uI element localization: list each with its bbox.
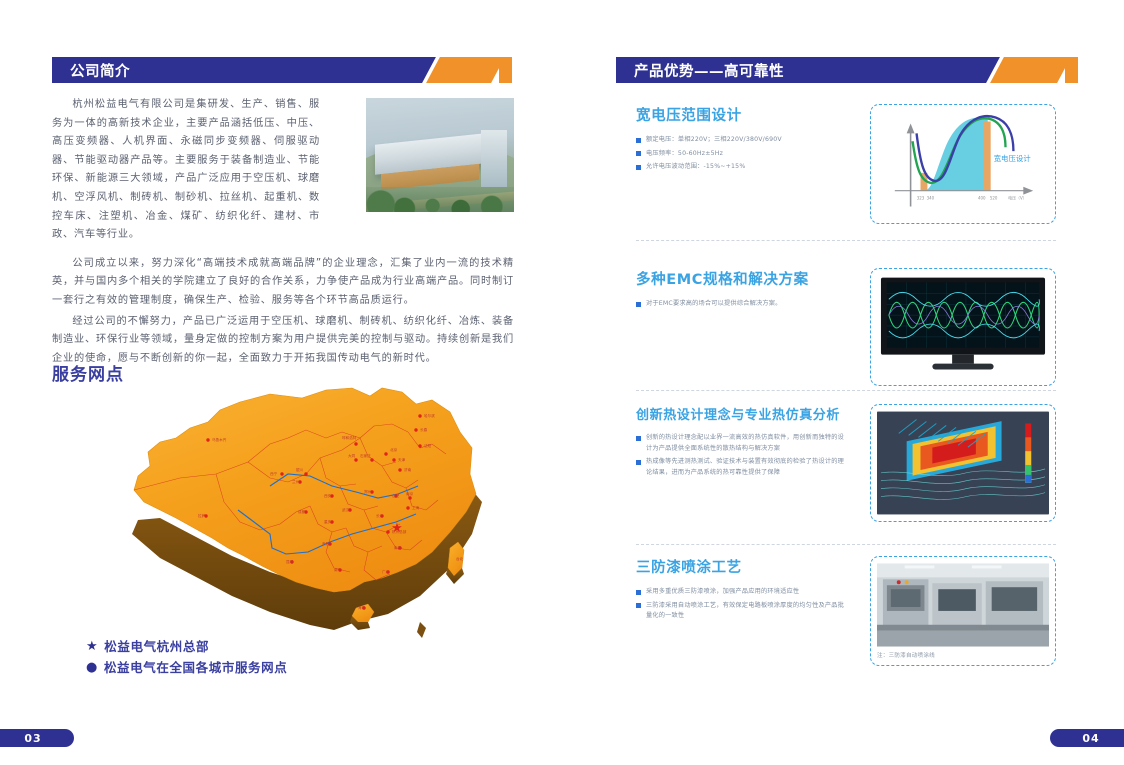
chart-x-arrow bbox=[1023, 187, 1033, 195]
map-legend: ★ 松益电气杭州总部 ● 松益电气在全国各城市服务网点 bbox=[86, 636, 287, 678]
page-number-right: 04 bbox=[1050, 729, 1124, 747]
right-banner-blue-block: 产品优势——高可靠性 bbox=[616, 57, 981, 83]
svg-text:昆明: 昆明 bbox=[286, 559, 294, 564]
feature-2-title: 多种EMC规格和解决方案 bbox=[636, 268, 848, 289]
star-icon: ★ bbox=[86, 636, 98, 657]
svg-text:广州: 广州 bbox=[382, 569, 390, 574]
right-section-banner: 产品优势——高可靠性 bbox=[616, 57, 1078, 83]
svg-text:上海: 上海 bbox=[412, 505, 420, 510]
feature-block-emc: 多种EMC规格和解决方案 对于EMC要求高的场合可以提供综合解决方案。 bbox=[636, 268, 1056, 386]
bullet-square-icon bbox=[636, 603, 641, 608]
conveyor bbox=[877, 625, 1049, 631]
feature-1-bullet-2-text: 电压频率：50-60Hz±5Hz bbox=[646, 149, 723, 160]
svg-text:台北: 台北 bbox=[456, 556, 464, 561]
svg-text:武汉: 武汉 bbox=[342, 507, 350, 512]
feature-4-bullet-1: 采用多重优质三防漆喷涂，加强产品应用的环境适应性 bbox=[636, 587, 848, 598]
intro-first-paragraph-wrap: 杭州松益电气有限公司是集研发、生产、销售、服务为一体的高新技术企业，主要产品涵括… bbox=[52, 96, 514, 245]
indicator-red bbox=[897, 580, 901, 584]
feature-block-wide-voltage: 宽电压范围设计 额定电压：单相220V；三相220V/380V/690V 电压频… bbox=[636, 104, 1056, 224]
svg-text:北京: 北京 bbox=[390, 447, 398, 452]
page-number-right-value: 04 bbox=[1082, 732, 1099, 745]
ceiling-light-1 bbox=[905, 565, 935, 568]
machine-right-window bbox=[992, 587, 1037, 611]
feature-3-bullet-1-text: 创新的热设计理念配以业界一流高效的热仿真软件，用创新而独特的设计为产品提供全面系… bbox=[646, 433, 848, 454]
left-page: 公司简介 杭州松益电气有限公司是集研发、生产、销售、服务为一体的高新技术企业，主… bbox=[0, 0, 562, 765]
svg-text:杭州总部: 杭州总部 bbox=[392, 529, 407, 534]
svg-text:重庆: 重庆 bbox=[324, 519, 332, 524]
page-number-left-value: 03 bbox=[24, 732, 41, 745]
legend-branches-label: 松益电气在全国各城市服务网点 bbox=[104, 657, 287, 678]
left-banner-title: 公司简介 bbox=[70, 60, 130, 81]
feature-1-bullet-3-text: 允许电压波动范围：-15%~+15% bbox=[646, 162, 745, 173]
feature-1-image-frame: 323 340 400 520 电压（V） 宽电压设计 bbox=[870, 104, 1056, 224]
china-service-map: ★ bbox=[120, 382, 510, 647]
feature-1-bullet-3: 允许电压波动范围：-15%~+15% bbox=[636, 162, 848, 173]
bullet-square-icon bbox=[636, 460, 641, 465]
feature-1-bullet-1: 额定电压：单相220V；三相220V/380V/690V bbox=[636, 135, 848, 146]
machine-left-window bbox=[891, 589, 921, 607]
chart-series-label: 宽电压设计 bbox=[994, 153, 1032, 163]
svg-text:拉萨: 拉萨 bbox=[198, 513, 206, 518]
feature-3-image-frame bbox=[870, 404, 1056, 522]
monitor-neck bbox=[952, 355, 974, 364]
feature-separator-3 bbox=[636, 544, 1056, 545]
feature-3-bullet-2-text: 热成像等先进测热测试、验证技术与装置有效彻底的检验了热设计的理论结果，进而为产品… bbox=[646, 457, 848, 478]
feature-1-bullet-2: 电压频率：50-60Hz±5Hz bbox=[636, 149, 848, 160]
left-section-banner: 公司简介 bbox=[52, 57, 512, 83]
chart-tick-2: 400 bbox=[978, 196, 986, 201]
feature-4-text: 三防漆喷涂工艺 采用多重优质三防漆喷涂，加强产品应用的环境适应性 三防漆采用自动… bbox=[636, 556, 848, 666]
line-ceiling bbox=[877, 563, 1049, 577]
chart-tick-labels: 323 340 400 520 电压（V） bbox=[917, 196, 1027, 201]
feature-2-bullet-1: 对于EMC要求高的场合可以提供综合解决方案。 bbox=[636, 299, 848, 310]
svg-text:西安: 西安 bbox=[324, 493, 332, 498]
svg-text:石家庄: 石家庄 bbox=[360, 453, 371, 458]
feature-3-bullet-2: 热成像等先进测热测试、验证技术与装置有效彻底的检验了热设计的理论结果，进而为产品… bbox=[636, 457, 848, 478]
bullet-square-icon bbox=[636, 151, 641, 156]
svg-text:南宁: 南宁 bbox=[334, 567, 342, 572]
svg-text:合肥: 合肥 bbox=[392, 493, 400, 498]
feature-4-image-frame: 注：三防漆自动喷涂线 bbox=[870, 556, 1056, 666]
svg-text:乌鲁木齐: 乌鲁木齐 bbox=[212, 437, 227, 442]
chart-axis-label: 电压（V） bbox=[1008, 196, 1026, 201]
svg-text:呼和浩特: 呼和浩特 bbox=[342, 435, 357, 440]
emc-oscilloscope-photo bbox=[877, 275, 1049, 379]
oscilloscope-svg bbox=[877, 275, 1049, 379]
line-floor bbox=[877, 631, 1049, 647]
bullet-square-icon bbox=[636, 165, 641, 170]
svg-text:哈尔滨: 哈尔滨 bbox=[424, 413, 435, 418]
chart-tick-1: 340 bbox=[927, 196, 935, 201]
svg-text:大同: 大同 bbox=[348, 453, 356, 458]
chart-tick-3: 520 bbox=[990, 196, 998, 201]
page-number-left: 03 bbox=[0, 729, 74, 747]
svg-text:长沙: 长沙 bbox=[376, 513, 384, 518]
thermal-color-scale bbox=[1025, 423, 1031, 482]
bullet-square-icon bbox=[636, 302, 641, 307]
china-map-svg: ★ bbox=[120, 382, 510, 647]
svg-text:天津: 天津 bbox=[398, 457, 406, 462]
svg-text:南京: 南京 bbox=[406, 491, 414, 496]
bullet-square-icon bbox=[636, 590, 641, 595]
feature-1-bullet-1-text: 额定电压：单相220V；三相220V/380V/690V bbox=[646, 135, 782, 146]
dot-icon: ● bbox=[86, 657, 98, 678]
feature-separator-1 bbox=[636, 240, 1056, 241]
feature-block-coating: 三防漆喷涂工艺 采用多重优质三防漆喷涂，加强产品应用的环境适应性 三防漆采用自动… bbox=[636, 556, 1056, 666]
chart-marker-high bbox=[984, 121, 991, 190]
svg-text:银川: 银川 bbox=[296, 467, 304, 472]
legend-hq-label: 松益电气杭州总部 bbox=[104, 636, 209, 657]
feature-3-bullet-1: 创新的热设计理念配以业界一流高效的热仿真软件，用创新而独特的设计为产品提供全面系… bbox=[636, 433, 848, 454]
thermal-simulation-image bbox=[877, 411, 1049, 515]
banner-blue-block: 公司简介 bbox=[52, 57, 417, 83]
voltage-curve-svg: 323 340 400 520 电压（V） 宽电压设计 bbox=[877, 111, 1049, 217]
svg-text:沈阳: 沈阳 bbox=[424, 443, 432, 448]
legend-item-hq: ★ 松益电气杭州总部 bbox=[86, 636, 287, 657]
feature-4-caption: 注：三防漆自动喷涂线 bbox=[877, 651, 1049, 659]
feature-block-thermal: 创新热设计理念与专业热仿真分析 创新的热设计理念配以业界一流高效的热仿真软件，用… bbox=[636, 404, 1056, 522]
feature-4-bullet-1-text: 采用多重优质三防漆喷涂，加强产品应用的环境适应性 bbox=[646, 587, 799, 598]
ceiling-light-2 bbox=[972, 565, 1002, 568]
feature-2-image-frame bbox=[870, 268, 1056, 386]
svg-text:长春: 长春 bbox=[420, 427, 428, 432]
photo-trees bbox=[366, 187, 514, 212]
feature-2-bullet-1-text: 对于EMC要求高的场合可以提供综合解决方案。 bbox=[646, 299, 782, 310]
svg-text:西宁: 西宁 bbox=[270, 471, 278, 476]
map-small-island bbox=[417, 622, 426, 638]
feature-1-text: 宽电压范围设计 额定电压：单相220V；三相220V/380V/690V 电压频… bbox=[636, 104, 848, 224]
photo-office-tower bbox=[481, 130, 506, 187]
production-line-svg bbox=[877, 563, 1049, 647]
feature-2-text: 多种EMC规格和解决方案 对于EMC要求高的场合可以提供综合解决方案。 bbox=[636, 268, 848, 386]
service-network-title: 服务网点 bbox=[52, 360, 124, 385]
feature-3-text: 创新热设计理念与专业热仿真分析 创新的热设计理念配以业界一流高效的热仿真软件，用… bbox=[636, 404, 848, 522]
right-banner-title: 产品优势——高可靠性 bbox=[634, 60, 784, 81]
factory-aerial-photo bbox=[366, 98, 514, 212]
feature-separator-2 bbox=[636, 390, 1056, 391]
svg-text:贵阳: 贵阳 bbox=[322, 541, 330, 546]
company-intro-body: 杭州松益电气有限公司是集研发、生产、销售、服务为一体的高新技术企业，主要产品涵括… bbox=[52, 96, 514, 368]
indicator-amber bbox=[905, 580, 909, 584]
bullet-square-icon bbox=[636, 138, 641, 143]
feature-4-title: 三防漆喷涂工艺 bbox=[636, 556, 848, 577]
coating-line-photo bbox=[877, 563, 1049, 647]
feature-3-title: 创新热设计理念与专业热仿真分析 bbox=[636, 404, 848, 423]
feature-4-bullet-2-text: 三防漆采用自动喷涂工艺，有效保定电路板喷涂厚度的均匀性及产品批量化的一致性 bbox=[646, 601, 848, 622]
svg-text:南昌: 南昌 bbox=[394, 545, 402, 550]
monitor-base bbox=[932, 364, 993, 370]
chart-tick-0: 323 bbox=[917, 196, 925, 201]
svg-text:郑州: 郑州 bbox=[364, 489, 372, 494]
svg-text:成都: 成都 bbox=[298, 509, 306, 514]
feature-4-bullet-2: 三防漆采用自动喷涂工艺，有效保定电路板喷涂厚度的均匀性及产品批量化的一致性 bbox=[636, 601, 848, 622]
svg-text:海口: 海口 bbox=[358, 605, 366, 610]
machine-center-window bbox=[938, 589, 976, 611]
chart-y-arrow bbox=[907, 123, 915, 133]
wide-voltage-range-chart: 323 340 400 520 电压（V） 宽电压设计 bbox=[877, 111, 1049, 217]
svg-text:兰州: 兰州 bbox=[292, 479, 300, 484]
bullet-square-icon bbox=[636, 436, 641, 441]
thermal-svg bbox=[877, 411, 1049, 515]
legend-item-branches: ● 松益电气在全国各城市服务网点 bbox=[86, 657, 287, 678]
svg-text:济南: 济南 bbox=[404, 467, 412, 472]
banner-orange-block bbox=[426, 57, 505, 83]
feature-1-title: 宽电压范围设计 bbox=[636, 104, 848, 125]
intro-paragraph-1: 杭州松益电气有限公司是集研发、生产、销售、服务为一体的高新技术企业，主要产品涵括… bbox=[52, 96, 320, 245]
intro-paragraph-2: 公司成立以来，努力深化“高端技术成就高端品牌”的企业理念，汇集了业内一流的技术精… bbox=[52, 255, 514, 311]
right-banner-orange-block bbox=[990, 57, 1071, 83]
